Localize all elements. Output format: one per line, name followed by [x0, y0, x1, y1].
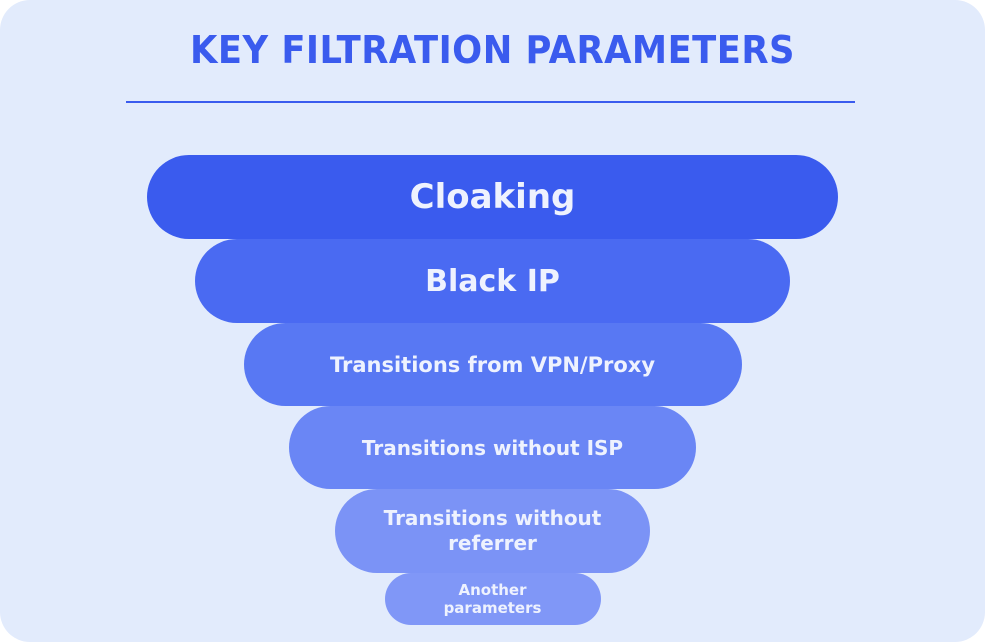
funnel-stage-6-label: Another parameters [411, 581, 575, 617]
funnel-stage-5[interactable]: Transitions without referrer [335, 489, 650, 573]
page-title: KEY FILTRATION PARAMETERS [34, 26, 950, 74]
funnel-stage-6[interactable]: Another parameters [385, 573, 601, 625]
funnel-stage-4[interactable]: Transitions without ISP [289, 406, 696, 489]
funnel-card: KEY FILTRATION PARAMETERS Cloaking Black… [0, 0, 985, 642]
funnel-stage-3[interactable]: Transitions from VPN/Proxy [244, 323, 742, 406]
funnel-stage-2-label: Black IP [425, 264, 560, 299]
funnel-stage-5-label: Transitions without referrer [361, 506, 624, 556]
funnel-stage-1-label: Cloaking [410, 177, 576, 217]
funnel-stage-1[interactable]: Cloaking [147, 155, 838, 239]
funnel-chart: Cloaking Black IP Transitions from VPN/P… [0, 155, 985, 625]
funnel-stage-4-label: Transitions without ISP [362, 436, 623, 460]
title-divider [126, 101, 855, 103]
funnel-stage-3-label: Transitions from VPN/Proxy [330, 353, 655, 377]
funnel-stage-2[interactable]: Black IP [195, 239, 790, 323]
